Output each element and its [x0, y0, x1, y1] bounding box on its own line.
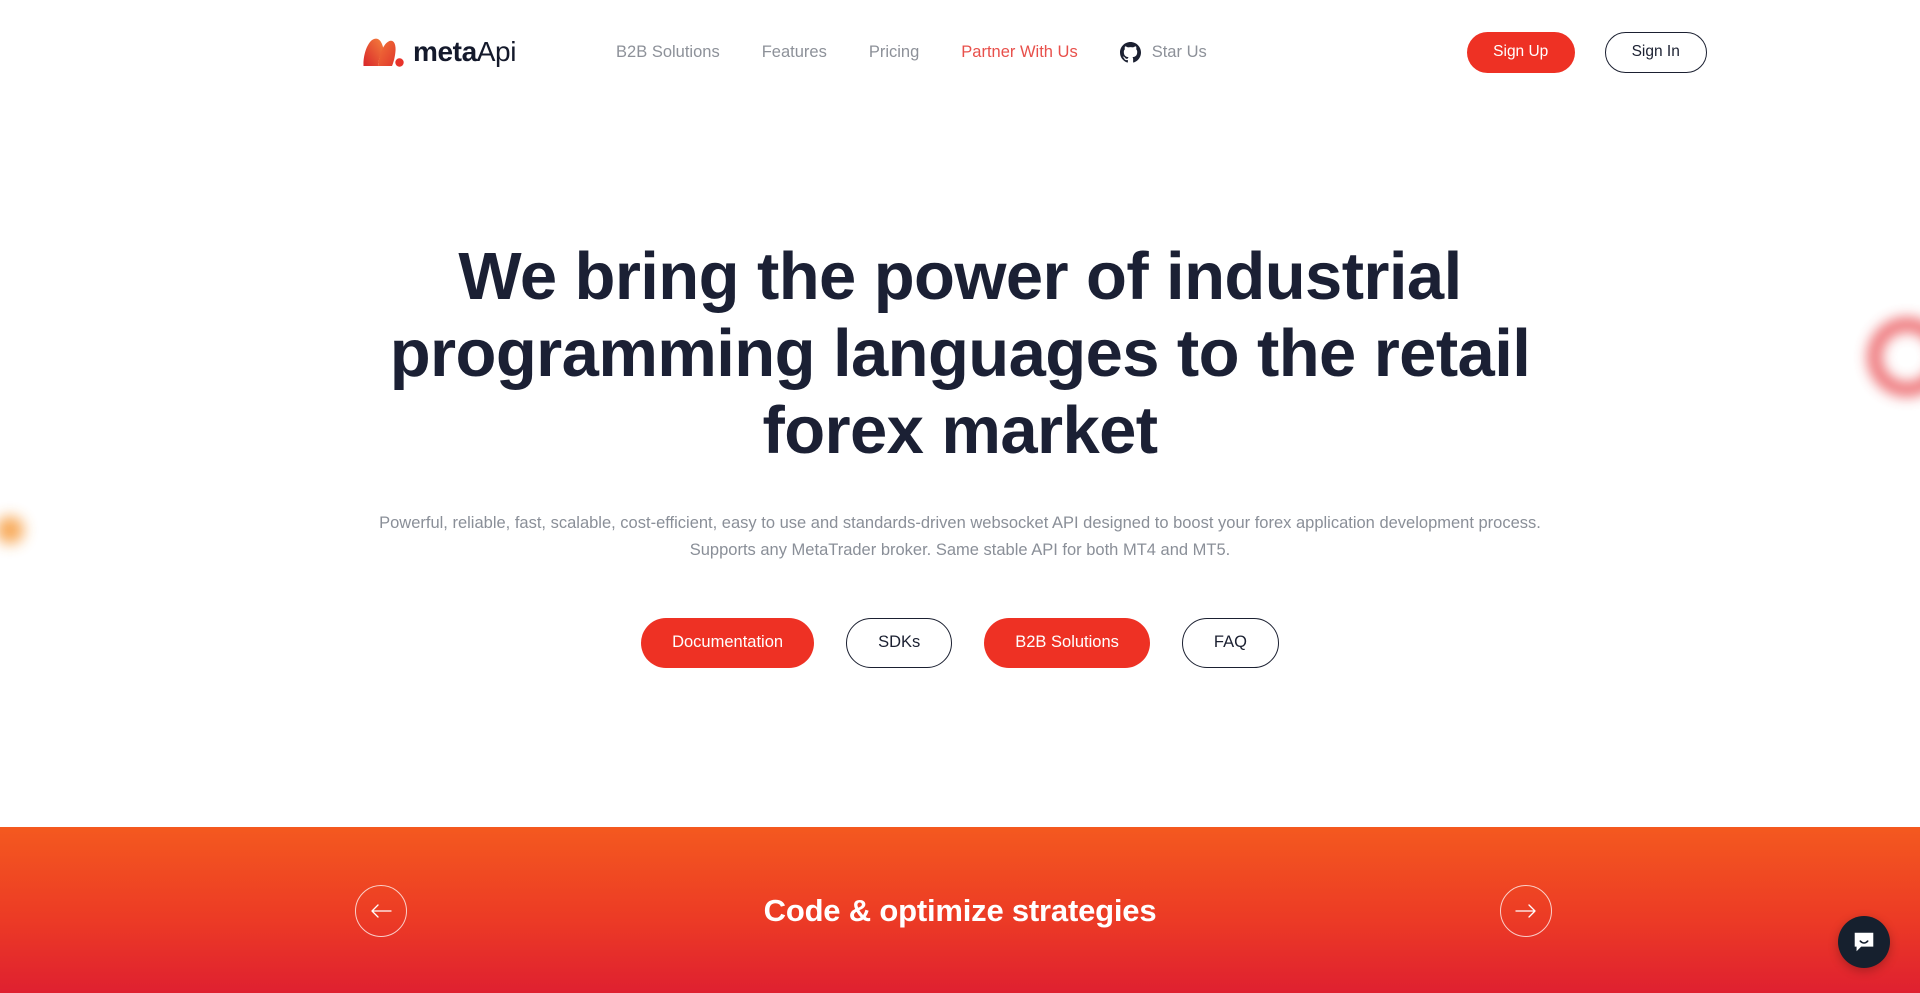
chat-bubble-icon [1851, 929, 1877, 955]
brand-logo[interactable]: metaApi [362, 32, 516, 72]
chat-launcher-button[interactable] [1838, 916, 1890, 968]
brand-name-bold: meta [413, 36, 477, 67]
hero-section: We bring the power of industrial program… [0, 104, 1920, 668]
hero-title: We bring the power of industrial program… [348, 238, 1573, 469]
metaapi-m-logo-icon [362, 36, 404, 68]
carousel-title: Code & optimize strategies [764, 895, 1157, 926]
arrow-left-icon [369, 903, 393, 919]
arrow-right-icon [1514, 903, 1538, 919]
hero-cta-row: Documentation SDKs B2B Solutions FAQ [0, 618, 1920, 668]
b2b-solutions-button[interactable]: B2B Solutions [984, 618, 1150, 668]
github-icon [1120, 42, 1141, 63]
brand-wordmark: metaApi [413, 38, 516, 66]
sdks-button[interactable]: SDKs [846, 618, 952, 668]
faq-button[interactable]: FAQ [1182, 618, 1279, 668]
carousel-prev-button[interactable] [355, 885, 407, 937]
carousel-next-button[interactable] [1500, 885, 1552, 937]
sign-up-button[interactable]: Sign Up [1467, 32, 1575, 73]
nav-item-features[interactable]: Features [762, 44, 827, 61]
sign-in-button[interactable]: Sign In [1605, 32, 1707, 73]
nav-item-pricing[interactable]: Pricing [869, 44, 919, 61]
nav-item-star-us[interactable]: Star Us [1120, 42, 1207, 63]
nav-item-star-us-label: Star Us [1152, 44, 1207, 61]
hero-subtitle: Powerful, reliable, fast, scalable, cost… [370, 510, 1550, 563]
nav-item-b2b-solutions[interactable]: B2B Solutions [616, 44, 720, 61]
site-header: metaApi B2B Solutions Features Pricing P… [0, 0, 1920, 104]
nav-item-partner-with-us[interactable]: Partner With Us [961, 44, 1077, 61]
auth-buttons: Sign Up Sign In [1467, 32, 1707, 73]
brand-name-light: Api [477, 36, 516, 67]
documentation-button[interactable]: Documentation [641, 618, 814, 668]
main-navigation: B2B Solutions Features Pricing Partner W… [616, 42, 1207, 63]
carousel-band: Code & optimize strategies [0, 827, 1920, 993]
